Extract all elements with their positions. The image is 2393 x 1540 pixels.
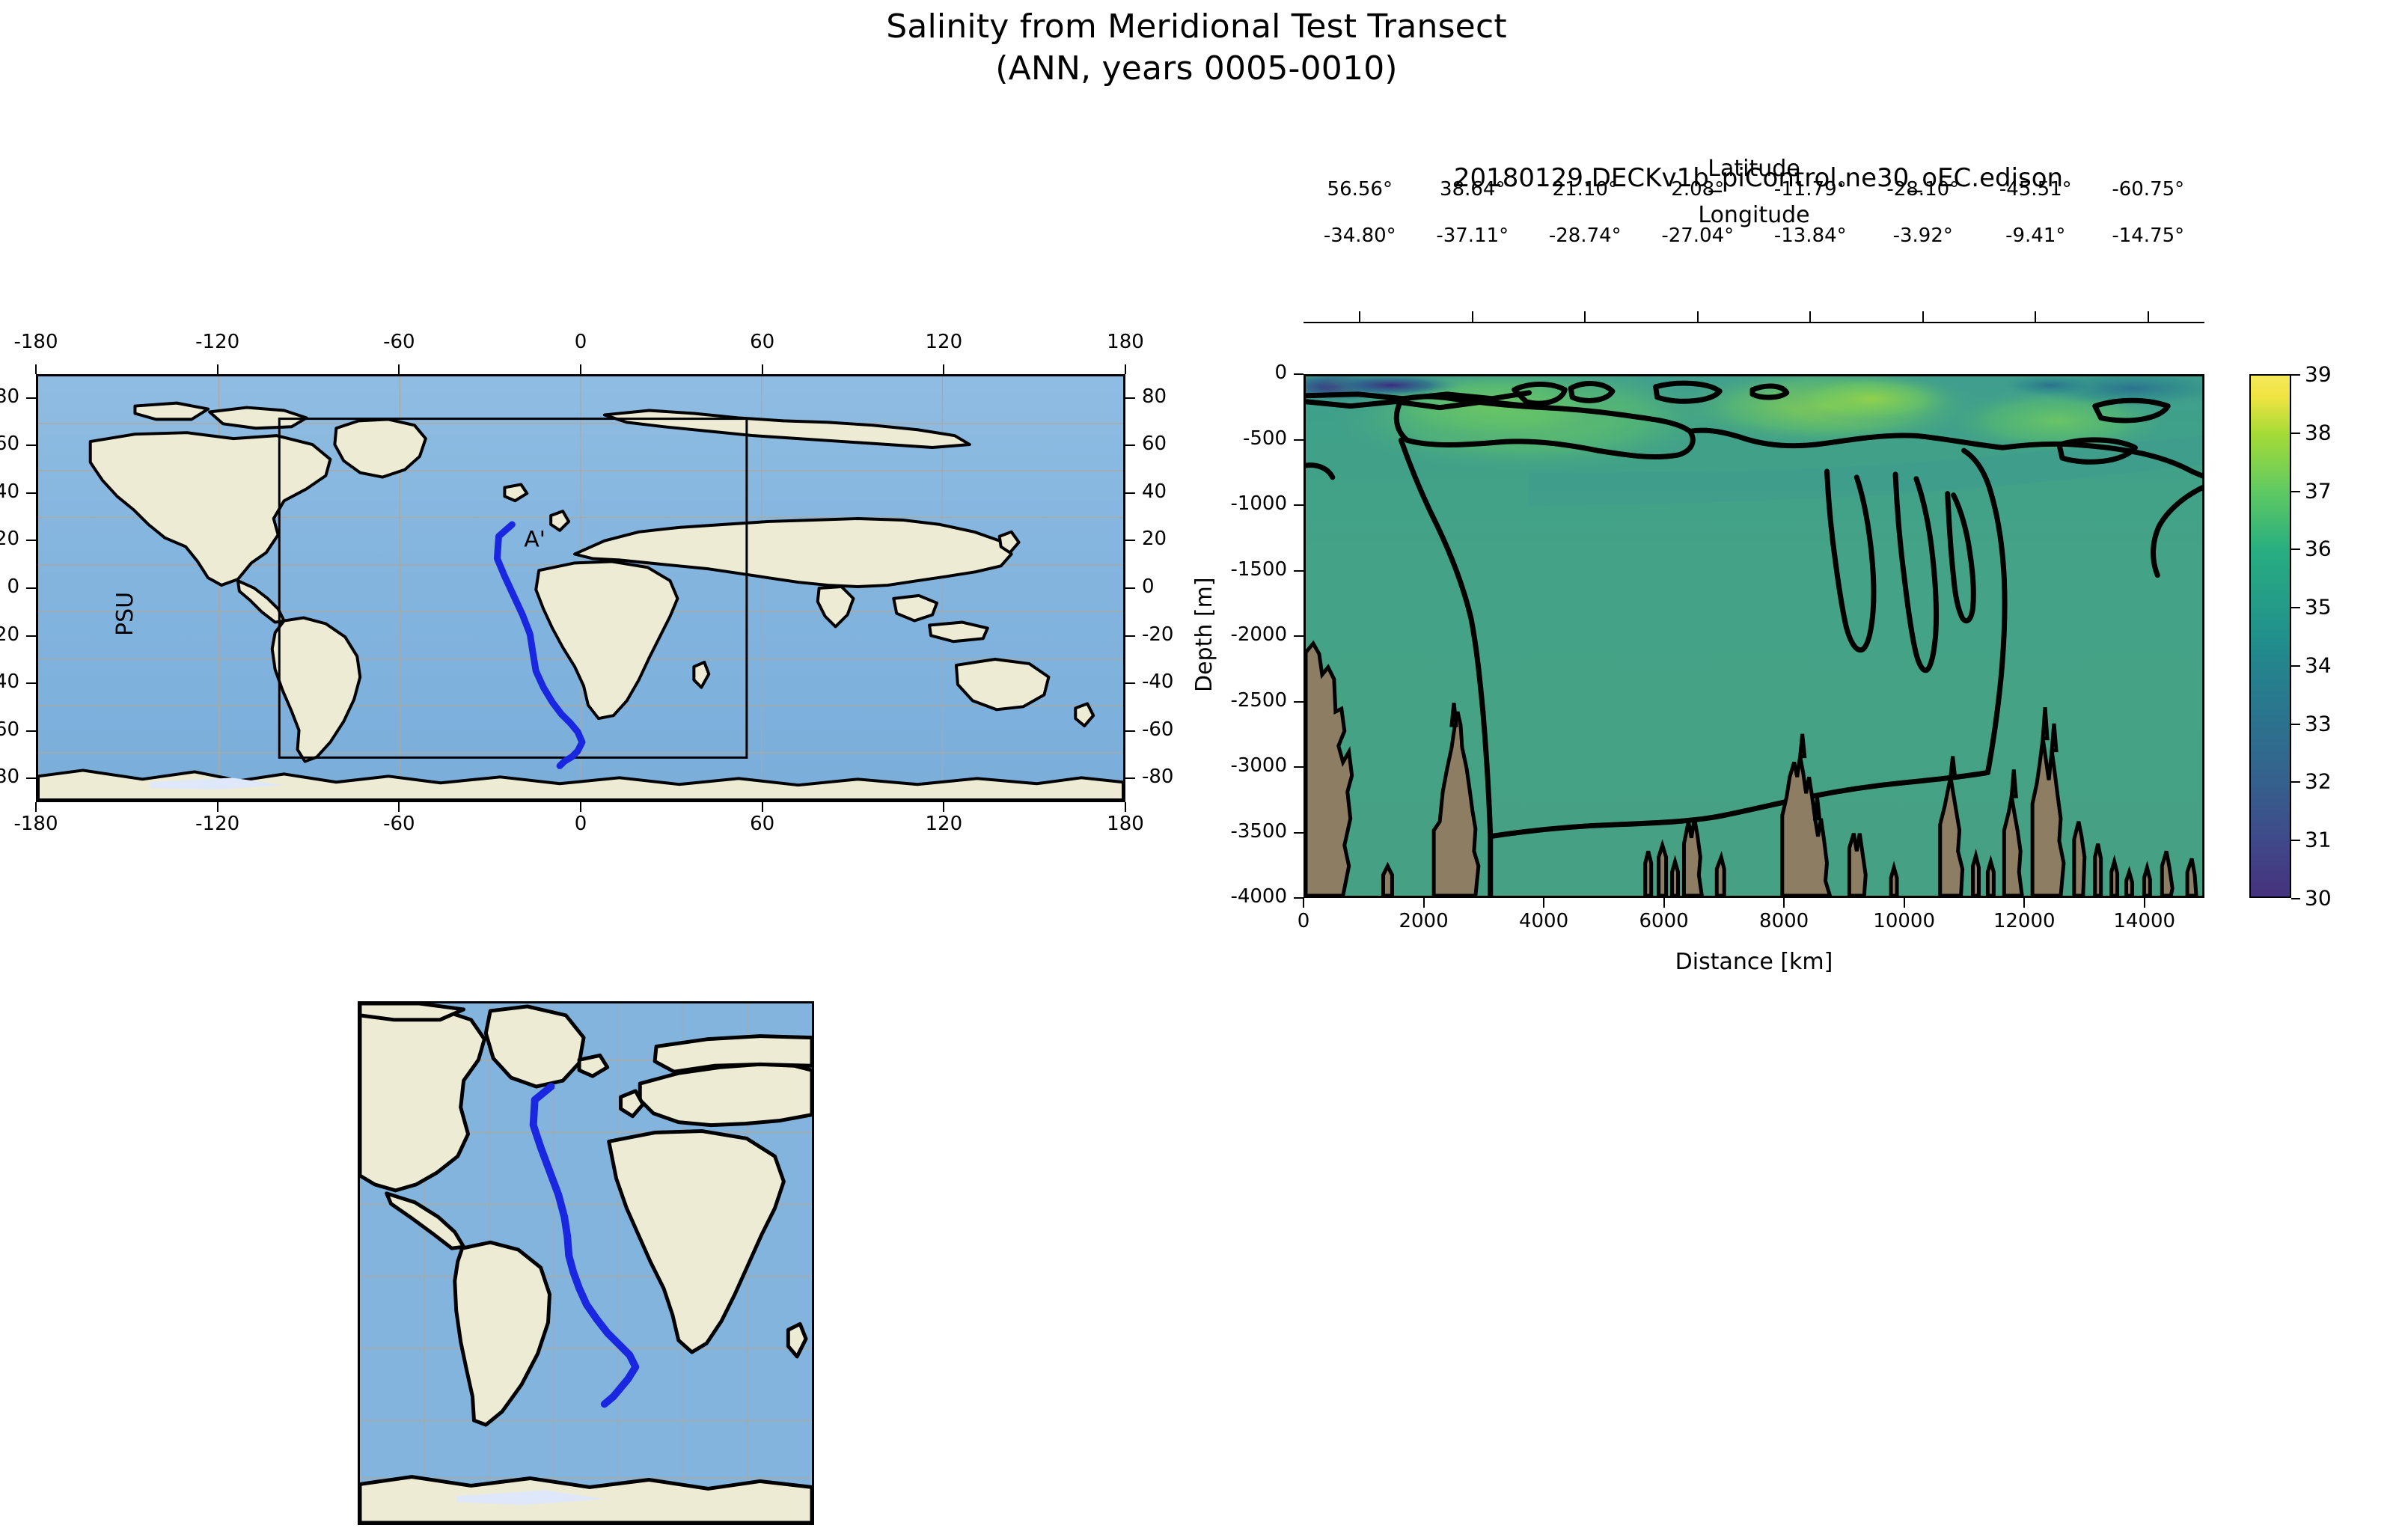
- transect-y-tickmark: [1294, 897, 1304, 899]
- world-map-lat-tick-right: -80: [1142, 766, 1173, 788]
- transect-x-tick: 8000: [1759, 910, 1809, 932]
- transect-x-tickmark: [1543, 898, 1544, 908]
- world-map-lon-tickmark-top: [762, 364, 763, 374]
- world-map-lon-tick-top: 180: [1107, 331, 1144, 353]
- transect-longitude-tick: -9.41°: [2005, 224, 2065, 247]
- transect-y-tick: -3000: [1230, 754, 1287, 777]
- world-map-lat-tickmark-right: [1125, 492, 1135, 494]
- salinity-section-graphic: [1306, 376, 2202, 896]
- transect-x-tickmark: [2023, 898, 2025, 908]
- transect-x-tick: 10000: [1873, 910, 1935, 932]
- transect-x-tick: 0: [1298, 910, 1310, 932]
- transect-x-tick: 2000: [1399, 910, 1448, 932]
- colorbar-tick-label: 30: [2305, 886, 2332, 911]
- world-map-lat-tick-left: 80: [0, 385, 19, 408]
- transect-longitude-tick: -13.84°: [1774, 224, 1847, 247]
- transect-y-tick: -500: [1243, 427, 1287, 450]
- salinity-colorbar[interactable]: 39383736353433323130: [2249, 374, 2291, 898]
- transect-y-tick: -4000: [1230, 885, 1287, 908]
- colorbar-tick-label: 32: [2305, 769, 2332, 794]
- world-map-lon-tickmark-bottom: [580, 802, 581, 812]
- world-map-lon-tick-bottom: 120: [926, 813, 963, 835]
- transect-x-tickmark: [1423, 898, 1425, 908]
- inset-map-frame[interactable]: [358, 1001, 814, 1525]
- colorbar-tick-label: 35: [2305, 595, 2332, 620]
- world-map-lat-tick-left: 0: [7, 575, 19, 598]
- world-map-lat-tick-right: 60: [1142, 433, 1167, 455]
- transect-y-tick: -1500: [1230, 558, 1287, 581]
- transect-y-tickmark: [1294, 832, 1304, 834]
- world-map-lon-tick-bottom: 180: [1107, 813, 1144, 835]
- world-map-lon-tick-bottom: -120: [195, 813, 239, 835]
- world-map-lat-tickmark-left: [26, 444, 36, 446]
- world-map-panel[interactable]: A': [36, 374, 1125, 802]
- transect-top-tickmark: [1584, 311, 1586, 322]
- world-map-lon-tick-top: 60: [750, 331, 774, 353]
- world-map-lon-tick-bottom: -180: [13, 813, 58, 835]
- transect-longitude-tick: -3.92°: [1893, 224, 1953, 247]
- colorbar-tick-label: 33: [2305, 711, 2332, 736]
- world-map-lon-tickmark-top: [943, 364, 944, 374]
- transect-y-tickmark: [1294, 701, 1304, 703]
- transect-y-tick: -2000: [1230, 623, 1287, 646]
- transect-latitude-tick: -28.10°: [1886, 178, 1959, 201]
- transect-longitude-tick: -28.74°: [1549, 224, 1622, 247]
- transect-y-tick: 0: [1274, 361, 1287, 384]
- colorbar-tickmark: [2291, 607, 2300, 608]
- transect-x-tickmark: [1303, 898, 1304, 908]
- transect-top-tickmark: [1697, 311, 1699, 322]
- world-map-lat-tickmark-left: [26, 635, 36, 637]
- transect-top-axis: [1304, 322, 2204, 323]
- world-map-lat-tick-left: -80: [0, 766, 19, 788]
- transect-y-tickmark: [1294, 439, 1304, 441]
- world-map-lat-tickmark-right: [1125, 587, 1135, 589]
- world-map-lon-tickmark-bottom: [398, 802, 400, 812]
- world-map-frame[interactable]: A': [36, 374, 1125, 802]
- colorbar-tickmark: [2291, 724, 2300, 725]
- transect-latitude-tick: -60.75°: [2112, 178, 2184, 201]
- world-map-lat-tickmark-left: [26, 587, 36, 589]
- world-map-lat-tickmark-left: [26, 540, 36, 541]
- world-map-lat-tickmark-right: [1125, 540, 1135, 541]
- world-map-lon-tickmark-bottom: [943, 802, 944, 812]
- transect-y-tick: -3500: [1230, 820, 1287, 843]
- colorbar-tickmark: [2291, 374, 2300, 376]
- transect-x-tickmark: [1663, 898, 1665, 908]
- world-map-lat-tickmark-right: [1125, 730, 1135, 732]
- transect-x-tickmark: [1783, 898, 1785, 908]
- transect-top-tickmark: [1809, 311, 1811, 322]
- colorbar-tick-label: 34: [2305, 653, 2332, 677]
- world-map-lat-tick-left: 60: [0, 433, 19, 455]
- transect-x-tickmark: [1904, 898, 1905, 908]
- world-map-lat-tickmark-right: [1125, 682, 1135, 684]
- world-map-lon-tickmark-top: [35, 364, 37, 374]
- world-map-lat-tickmark-right: [1125, 397, 1135, 399]
- world-map-lon-tickmark-top: [580, 364, 581, 374]
- world-map-lat-tick-left: -40: [0, 670, 19, 693]
- colorbar-tickmark: [2291, 840, 2300, 841]
- world-map-lon-tick-bottom: -60: [383, 813, 415, 835]
- transect-y-tickmark: [1294, 635, 1304, 637]
- world-map-lat-tickmark-right: [1125, 635, 1135, 637]
- colorbar-tick-label: 36: [2305, 537, 2332, 561]
- colorbar-unit-label: PSU: [112, 592, 138, 636]
- transect-y-tickmark: [1294, 766, 1304, 768]
- world-map-lon-tickmark-bottom: [1125, 802, 1126, 812]
- colorbar-tick-label: 31: [2305, 828, 2332, 852]
- transect-x-tick: 6000: [1639, 910, 1689, 932]
- world-map-lon-tickmark-top: [398, 364, 400, 374]
- world-map-lat-tick-right: -60: [1142, 718, 1173, 741]
- transect-top-tickmark: [1472, 311, 1473, 322]
- world-map-lat-tick-right: 40: [1142, 480, 1167, 503]
- world-map-lat-tick-right: -20: [1142, 623, 1173, 646]
- world-map-lon-tick-top: -60: [383, 331, 415, 353]
- transect-y-tick: -2500: [1230, 689, 1287, 712]
- world-map-lat-tickmark-left: [26, 397, 36, 399]
- transect-frame[interactable]: [1304, 374, 2204, 898]
- transect-x-tick: 14000: [2113, 910, 2175, 932]
- world-map-lat-tickmark-left: [26, 730, 36, 732]
- colorbar-tickmark: [2291, 898, 2300, 899]
- colorbar-tick-label: 37: [2305, 478, 2332, 503]
- transect-latitude-tick: 21.10°: [1553, 178, 1618, 201]
- world-map-lon-tick-top: -180: [13, 331, 58, 353]
- transect-latitude-tick: 56.56°: [1327, 178, 1393, 201]
- transect-latitude-tick: 38.64°: [1440, 178, 1505, 201]
- transect-latitude-tick: 2.08°: [1671, 178, 1724, 201]
- colorbar-tickmark: [2291, 433, 2300, 434]
- world-map-graphic: A': [38, 376, 1123, 800]
- transect-latitude-tick: -11.79°: [1774, 178, 1847, 201]
- world-map-lat-tick-left: 20: [0, 528, 19, 550]
- world-map-lat-tick-left: -20: [0, 623, 19, 646]
- world-map-lon-tick-bottom: 0: [575, 813, 587, 835]
- figure-title-line2: (ANN, years 0005-0010): [0, 48, 2393, 90]
- world-map-lon-tick-bottom: 60: [750, 813, 774, 835]
- world-map-lat-tick-right: 0: [1142, 575, 1155, 598]
- transect-panel[interactable]: [1304, 374, 2204, 898]
- world-map-lat-tick-left: -60: [0, 718, 19, 741]
- world-map-lon-tickmark-bottom: [217, 802, 218, 812]
- transect-y-tickmark: [1294, 373, 1304, 375]
- world-map-lat-tickmark-right: [1125, 777, 1135, 779]
- transect-top-tickmark: [1359, 311, 1360, 322]
- world-map-lat-tick-left: 40: [0, 480, 19, 503]
- transect-longitude-tick: -34.80°: [1324, 224, 1396, 247]
- world-map-lon-tickmark-bottom: [762, 802, 763, 812]
- colorbar-tickmark: [2291, 781, 2300, 783]
- colorbar-tickmark: [2291, 665, 2300, 667]
- colorbar-tickmark: [2291, 491, 2300, 492]
- transect-top-tickmark: [2148, 311, 2149, 322]
- transect-y-tickmark: [1294, 504, 1304, 506]
- inset-map-graphic: [360, 1003, 812, 1523]
- world-map-lon-tick-top: -120: [195, 331, 239, 353]
- transect-top-tickmark: [2035, 311, 2036, 322]
- transect-endpoint-label: A': [524, 527, 545, 553]
- world-map-lon-tick-top: 0: [575, 331, 587, 353]
- world-map-lat-tickmark-right: [1125, 444, 1135, 446]
- colorbar-tick-label: 39: [2305, 362, 2332, 387]
- transect-xlabel: Distance [km]: [1675, 949, 1833, 975]
- transect-y-tickmark: [1294, 570, 1304, 572]
- figure-title: Salinity from Meridional Test Transect (…: [0, 6, 2393, 90]
- transect-y-tick: -1000: [1230, 492, 1287, 515]
- world-map-lon-tickmark-top: [217, 364, 218, 374]
- world-map-lat-tickmark-left: [26, 777, 36, 779]
- world-map-lat-tickmark-left: [26, 682, 36, 684]
- transect-x-tick: 4000: [1519, 910, 1568, 932]
- transect-longitude-tick: -27.04°: [1661, 224, 1734, 247]
- world-map-lon-tick-top: 120: [926, 331, 963, 353]
- colorbar-gradient: [2249, 374, 2291, 898]
- figure-title-line1: Salinity from Meridional Test Transect: [0, 6, 2393, 48]
- transect-x-tick: 12000: [1993, 910, 2056, 932]
- transect-ylabel: Depth [m]: [1191, 577, 1217, 692]
- world-map-lat-tick-right: 20: [1142, 528, 1167, 550]
- world-map-lat-tick-right: -40: [1142, 670, 1173, 693]
- transect-longitude-tick: -14.75°: [2112, 224, 2184, 247]
- inset-map-panel[interactable]: [358, 1001, 814, 1525]
- world-map-lon-tickmark-bottom: [35, 802, 37, 812]
- transect-x-tickmark: [2144, 898, 2145, 908]
- transect-latitude-tick: -45.51°: [1999, 178, 2072, 201]
- transect-longitude-tick: -37.11°: [1436, 224, 1509, 247]
- world-map-lat-tick-right: 80: [1142, 385, 1167, 408]
- colorbar-tickmark: [2291, 549, 2300, 550]
- world-map-lon-tickmark-top: [1125, 364, 1126, 374]
- world-map-lat-tickmark-left: [26, 492, 36, 494]
- colorbar-tick-label: 38: [2305, 420, 2332, 444]
- transect-top-tickmark: [1922, 311, 1924, 322]
